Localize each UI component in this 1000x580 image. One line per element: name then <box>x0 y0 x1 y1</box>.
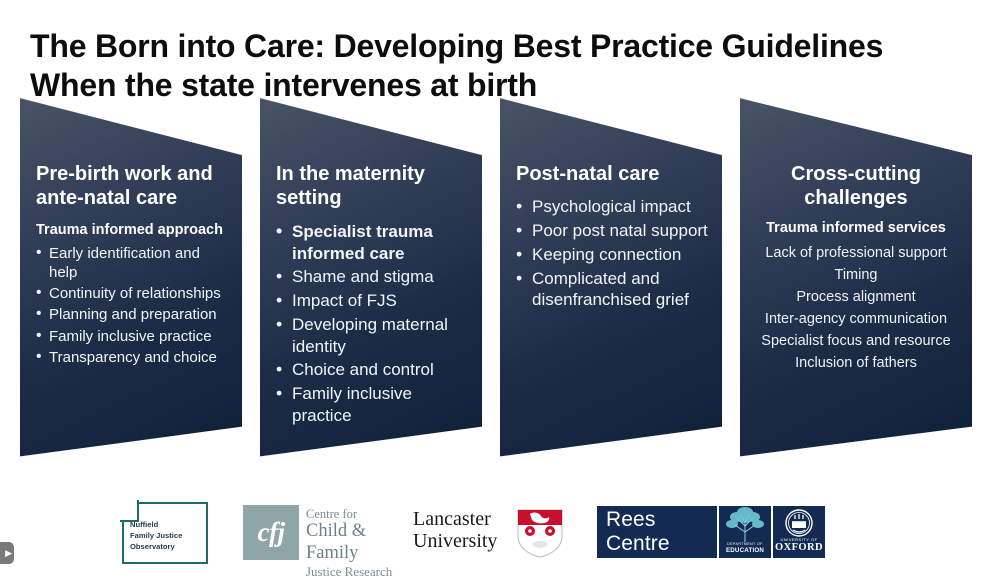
list-item: Lack of professional support <box>750 242 962 264</box>
list-item: Developing maternal identity <box>276 314 472 358</box>
panel-pre-birth[interactable]: Pre-birth work and ante-natal care Traum… <box>20 90 242 462</box>
tree-icon <box>719 506 771 546</box>
panel-maternity-setting-list: Specialist trauma informed care Shame an… <box>276 221 472 427</box>
lancaster-line-2: University <box>413 530 497 552</box>
list-item: Poor post natal support <box>516 220 712 242</box>
panel-cross-cutting-challenges[interactable]: Cross-cutting challenges Trauma informed… <box>740 90 972 462</box>
university-of-oxford-logo: UNIVERSITY OF OXFORD <box>773 506 825 558</box>
panel-cross-cutting-challenges-content: Cross-cutting challenges Trauma informed… <box>750 162 962 374</box>
media-playback-button[interactable]: ▶ <box>0 542 14 564</box>
list-item: Psychological impact <box>516 196 712 218</box>
nuffield-notch-icon <box>120 500 139 522</box>
oxford-caption: UNIVERSITY OF OXFORD <box>773 537 825 555</box>
panel-pre-birth-title: Pre-birth work and ante-natal care <box>36 162 232 211</box>
slide-canvas: The Born into Care: Developing Best Prac… <box>0 0 1000 572</box>
rees-centre-logo-group: Rees Centre <box>597 506 832 558</box>
panel-post-natal-care-content: Post-natal care Psychological impact Poo… <box>516 162 712 313</box>
panel-cross-cutting-challenges-list: Lack of professional support Timing Proc… <box>750 242 962 374</box>
panel-pre-birth-subheading: Trauma informed approach <box>36 221 232 239</box>
list-item: Early identification and help <box>36 244 232 282</box>
panel-maternity-setting-title: In the maternity setting <box>276 162 472 211</box>
cfj-line-2: Child & Family <box>306 521 403 564</box>
list-item: Complicated and disenfranchised grief <box>516 268 712 312</box>
panel-cross-cutting-challenges-title: Cross-cutting challenges <box>750 162 962 211</box>
logo-strip: Nuffield Family Justice Observatory cfj … <box>0 494 1000 572</box>
cfj-monogram-icon: cfj <box>243 505 299 560</box>
list-item: Inclusion of fathers <box>750 352 962 374</box>
lancaster-line-1: Lancaster <box>413 508 497 530</box>
panel-cross-cutting-challenges-subheading: Trauma informed services <box>750 219 962 237</box>
panel-post-natal-care[interactable]: Post-natal care Psychological impact Poo… <box>500 90 722 462</box>
list-item: Impact of FJS <box>276 290 472 312</box>
list-item: Transparency and choice <box>36 348 232 367</box>
list-item: Keeping connection <box>516 244 712 266</box>
lancaster-crest-icon <box>516 506 564 558</box>
panel-pre-birth-list: Early identification and help Continuity… <box>36 244 232 367</box>
department-of-education-logo: DEPARTMENT OF EDUCATION <box>719 506 771 558</box>
cfj-line-1: Centre for <box>306 507 403 521</box>
nuffield-line-3: Observatory <box>130 542 204 553</box>
list-item: Planning and preparation <box>36 305 232 324</box>
list-item: Specialist focus and resource <box>750 330 962 352</box>
list-item: Process alignment <box>750 286 962 308</box>
lancaster-university-logo: Lancaster University <box>413 506 568 560</box>
list-item: Family inclusive practice <box>276 383 472 427</box>
cfj-wordmark: Centre for Child & Family Justice Resear… <box>306 507 403 580</box>
list-item: Specialist trauma informed care <box>276 221 472 265</box>
panel-maternity-setting[interactable]: In the maternity setting Specialist trau… <box>260 90 482 462</box>
chevron-panel-group: Pre-birth work and ante-natal care Traum… <box>0 90 1000 470</box>
centre-for-child-and-family-justice-research-logo: cfj Centre for Child & Family Justice Re… <box>243 505 403 560</box>
list-item: Choice and control <box>276 359 472 381</box>
panel-pre-birth-content: Pre-birth work and ante-natal care Traum… <box>36 162 232 369</box>
lancaster-wordmark: Lancaster University <box>413 508 497 553</box>
oxford-line-2: OXFORD <box>773 542 825 555</box>
list-item: Shame and stigma <box>276 266 472 288</box>
panel-maternity-setting-content: In the maternity setting Specialist trau… <box>276 162 472 429</box>
rees-centre-logo: Rees Centre <box>597 506 717 558</box>
nuffield-wordmark: Nuffield Family Justice Observatory <box>130 520 204 552</box>
department-of-education-caption: DEPARTMENT OF EDUCATION <box>719 542 771 554</box>
nuffield-family-justice-observatory-logo: Nuffield Family Justice Observatory <box>122 502 208 564</box>
nuffield-line-1: Nuffield <box>130 520 204 531</box>
rees-centre-wordmark: Rees Centre <box>597 508 717 556</box>
list-item: Family inclusive practice <box>36 327 232 346</box>
doe-line-2: EDUCATION <box>719 547 771 554</box>
list-item: Continuity of relationships <box>36 284 232 303</box>
panel-post-natal-care-list: Psychological impact Poor post natal sup… <box>516 196 712 311</box>
oxford-crest-icon <box>773 506 825 540</box>
nuffield-line-2: Family Justice <box>130 531 204 542</box>
list-item: Inter-agency communication <box>750 308 962 330</box>
list-item: Timing <box>750 264 962 286</box>
panel-post-natal-care-title: Post-natal care <box>516 162 712 186</box>
